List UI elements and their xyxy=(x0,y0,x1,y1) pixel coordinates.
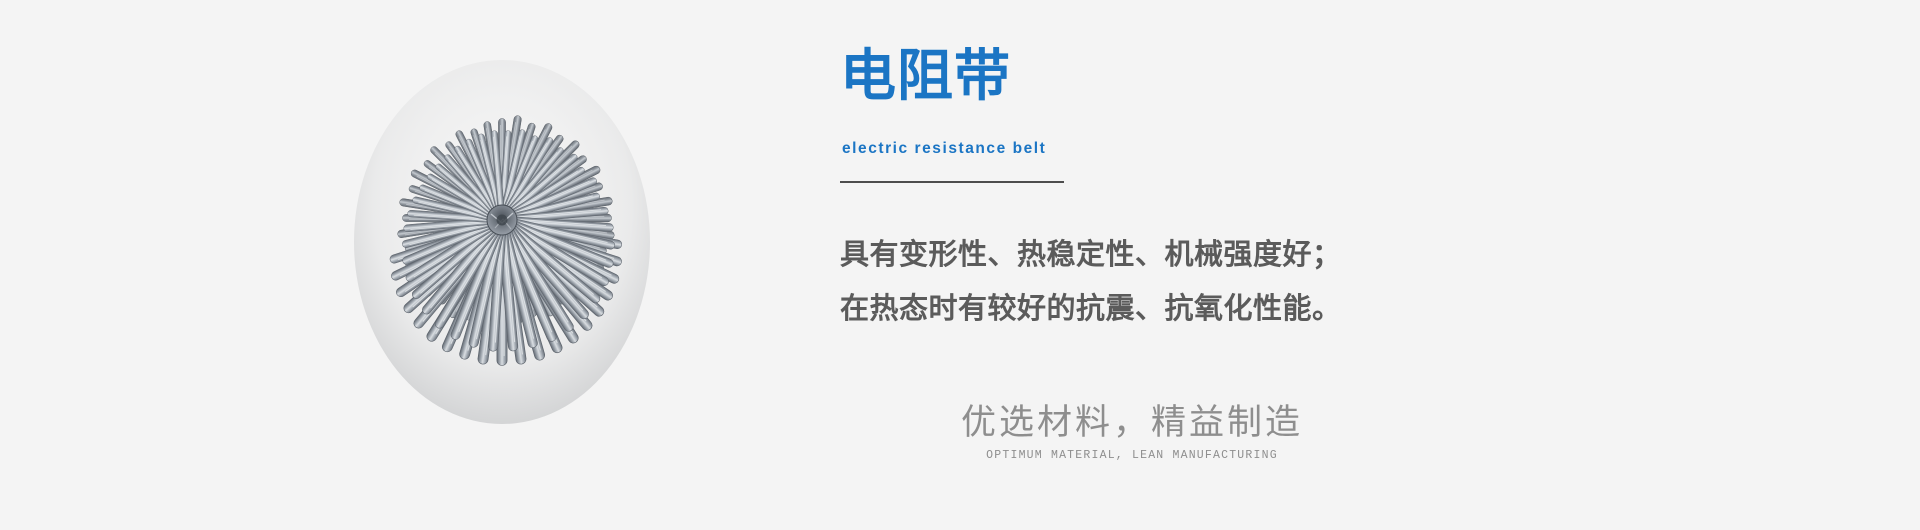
feature-line-2: 在热态时有较好的抗震、抗氧化性能。 xyxy=(840,282,1480,336)
feature-description: 具有变形性、热稳定性、机械强度好； 在热态时有较好的抗震、抗氧化性能。 xyxy=(840,228,1480,336)
product-image xyxy=(352,42,652,432)
title-divider xyxy=(840,181,1064,183)
slogan-chinese: 优选材料，精益制造 xyxy=(952,400,1312,446)
resistance-belt-coil-graphic xyxy=(352,42,652,432)
page-title: 电阻带 xyxy=(840,44,1011,108)
slogan-watermark: 优选材料，精益制造 OPTIMUM MATERIAL, LEAN MANUFAC… xyxy=(952,400,1312,464)
product-banner: 电阻带 electric resistance belt 具有变形性、热稳定性、… xyxy=(0,0,1920,530)
banner-text-column: 电阻带 electric resistance belt 具有变形性、热稳定性、… xyxy=(840,0,1600,530)
feature-line-1: 具有变形性、热稳定性、机械强度好； xyxy=(840,228,1480,282)
slogan-english: OPTIMUM MATERIAL, LEAN MANUFACTURING xyxy=(952,448,1312,464)
page-subtitle: electric resistance belt xyxy=(842,139,1046,159)
